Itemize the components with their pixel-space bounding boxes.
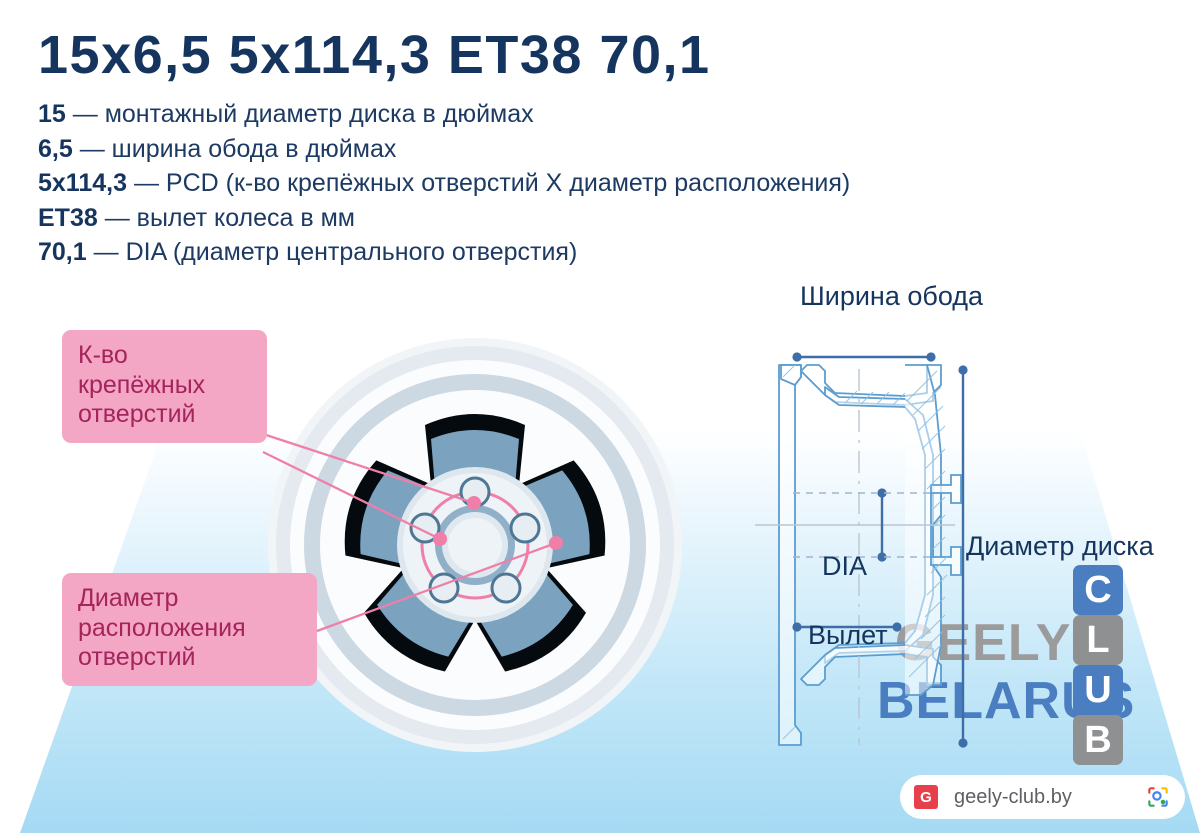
source-pill[interactable]: G geely-club.by [900,775,1185,819]
favicon-icon: G [914,785,938,809]
infographic-root: 15x6,5 5x114,3 ET38 70,1 15 — монтажный … [0,0,1200,833]
lens-icon[interactable] [1145,784,1171,810]
callout-pcd-diameter: Диаметр расположения отверстий [62,573,317,686]
callout-bolt-hole-count: К-во крепёжных отверстий [62,330,267,443]
source-site-label: geely-club.by [954,786,1145,809]
